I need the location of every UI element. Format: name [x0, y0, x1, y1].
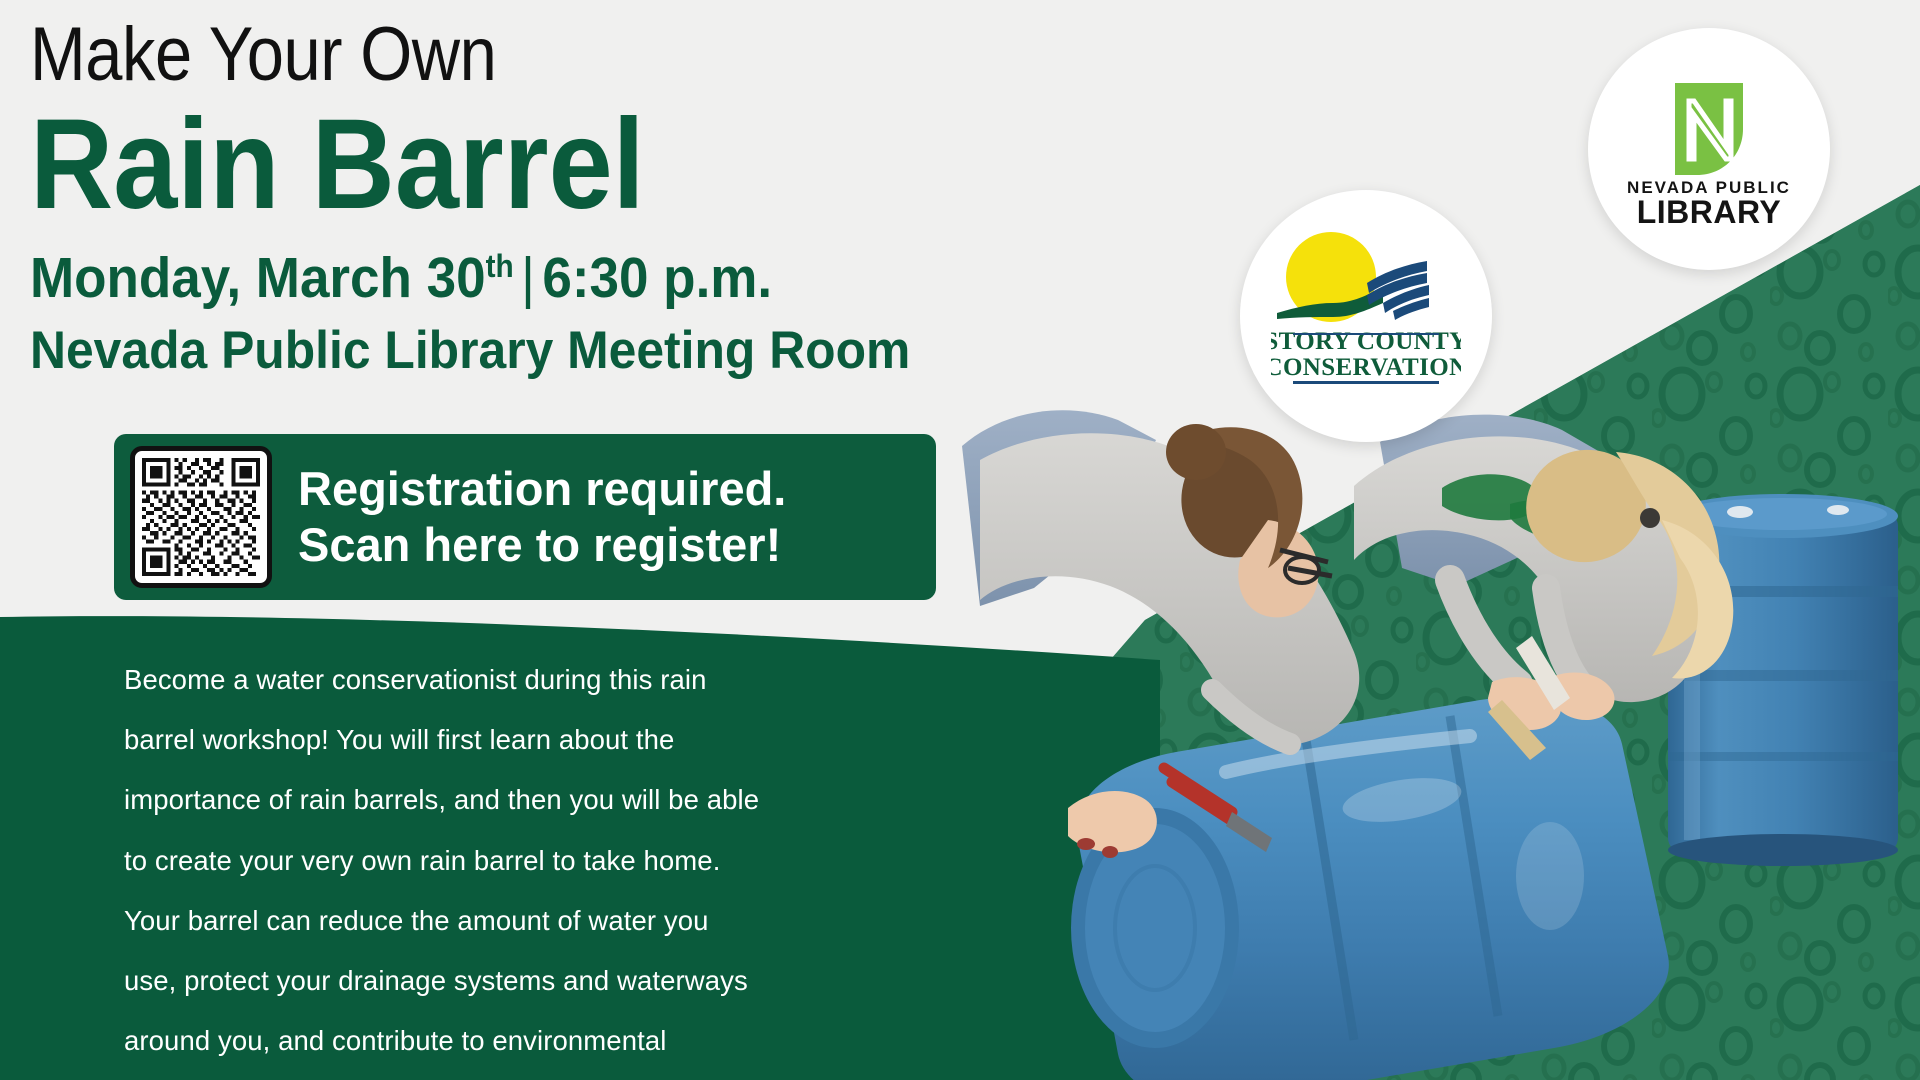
event-datetime: Monday, March 30th|6:30 p.m.	[30, 245, 1016, 311]
event-day: Monday, March 30	[30, 246, 486, 310]
registration-text: Registration required. Scan here to regi…	[298, 461, 786, 574]
rain-barrel-photo	[950, 400, 1920, 1080]
story-county-line-2: CONSERVATION	[1271, 354, 1461, 381]
flyer-canvas: Make Your Own Rain Barrel Monday, March …	[0, 0, 1920, 1080]
headline-block: Make Your Own Rain Barrel Monday, March …	[30, 16, 1090, 381]
story-county-conservation-logo: STORY COUNTY CONSERVATION	[1240, 190, 1492, 442]
library-line-2: LIBRARY	[1637, 194, 1782, 230]
nevada-public-library-logo: NEVADA PUBLIC LIBRARY	[1588, 28, 1830, 270]
page-title: Rain Barrel	[30, 98, 984, 231]
tipped-barrel	[1071, 696, 1669, 1080]
datetime-separator: |	[521, 246, 535, 310]
event-time: 6:30 p.m.	[542, 246, 772, 310]
qr-code-icon[interactable]	[130, 446, 272, 588]
description-paragraph: Become a water conservationist during th…	[124, 650, 764, 1080]
registration-line-2: Scan here to register!	[298, 517, 786, 573]
registration-banner[interactable]: Registration required. Scan here to regi…	[114, 434, 936, 600]
event-day-suffix: th	[486, 248, 514, 284]
eyebrow-text: Make Your Own	[30, 16, 963, 94]
story-county-line-1: STORY COUNTY	[1271, 328, 1461, 355]
event-venue: Nevada Public Library Meeting Room	[30, 320, 1026, 381]
registration-line-1: Registration required.	[298, 461, 786, 517]
